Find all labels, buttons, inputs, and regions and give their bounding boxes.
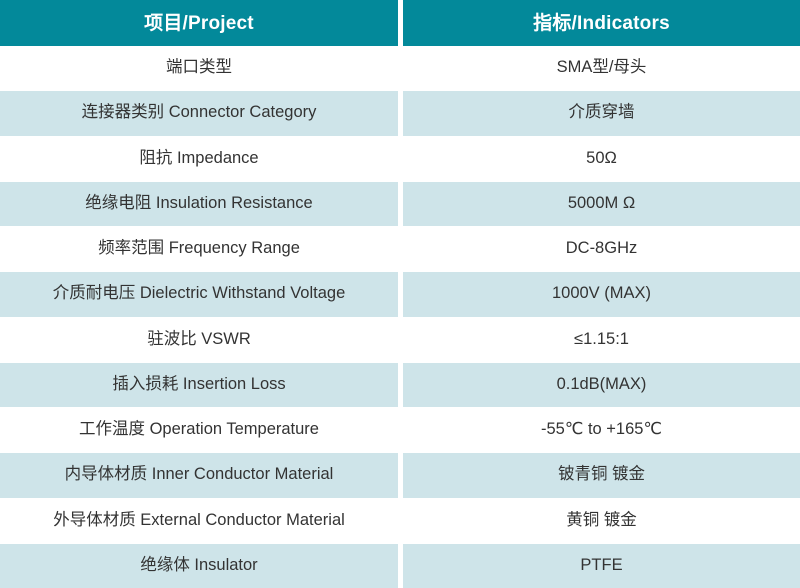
table-row: 驻波比 VSWR ≤1.15:1 (0, 318, 800, 362)
cell-project: 阻抗 Impedance (0, 137, 398, 181)
table-row: 介质耐电压 Dielectric Withstand Voltage 1000V… (0, 272, 800, 316)
cell-indicator: 5000M Ω (403, 182, 800, 226)
cell-indicator: ≤1.15:1 (403, 318, 800, 362)
table-row: 阻抗 Impedance 50Ω (0, 137, 800, 181)
column-header-project: 项目/Project (0, 0, 398, 46)
cell-project: 端口类型 (0, 46, 398, 90)
table-row: 内导体材质 Inner Conductor Material 铍青铜 镀金 (0, 453, 800, 497)
table-row: 插入损耗 Insertion Loss 0.1dB(MAX) (0, 363, 800, 407)
table-row: 频率范围 Frequency Range DC-8GHz (0, 227, 800, 271)
table-row: 连接器类别 Connector Category 介质穿墙 (0, 91, 800, 135)
cell-indicator: 铍青铜 镀金 (403, 453, 800, 497)
cell-project: 绝缘体 Insulator (0, 544, 398, 588)
table-body: 端口类型 SMA型/母头 连接器类别 Connector Category 介质… (0, 46, 800, 588)
table-row: 外导体材质 External Conductor Material 黄铜 镀金 (0, 499, 800, 543)
cell-indicator: 0.1dB(MAX) (403, 363, 800, 407)
cell-project: 介质耐电压 Dielectric Withstand Voltage (0, 272, 398, 316)
cell-indicator: 50Ω (403, 137, 800, 181)
cell-indicator: DC-8GHz (403, 227, 800, 271)
column-header-indicators: 指标/Indicators (403, 0, 800, 46)
cell-project: 绝缘电阻 Insulation Resistance (0, 182, 398, 226)
cell-indicator: 介质穿墙 (403, 91, 800, 135)
cell-indicator: -55℃ to +165℃ (403, 408, 800, 452)
table-row: 绝缘体 Insulator PTFE (0, 544, 800, 588)
cell-indicator: 1000V (MAX) (403, 272, 800, 316)
specification-table: 项目/Project 指标/Indicators 端口类型 SMA型/母头 连接… (0, 0, 800, 588)
cell-project: 连接器类别 Connector Category (0, 91, 398, 135)
cell-indicator: SMA型/母头 (403, 46, 800, 90)
table-header-row: 项目/Project 指标/Indicators (0, 0, 800, 46)
table-row: 工作温度 Operation Temperature -55℃ to +165℃ (0, 408, 800, 452)
table-row: 绝缘电阻 Insulation Resistance 5000M Ω (0, 182, 800, 226)
table-row: 端口类型 SMA型/母头 (0, 46, 800, 90)
cell-project: 频率范围 Frequency Range (0, 227, 398, 271)
cell-indicator: 黄铜 镀金 (403, 499, 800, 543)
cell-indicator: PTFE (403, 544, 800, 588)
cell-project: 内导体材质 Inner Conductor Material (0, 453, 398, 497)
cell-project: 外导体材质 External Conductor Material (0, 499, 398, 543)
cell-project: 驻波比 VSWR (0, 318, 398, 362)
cell-project: 工作温度 Operation Temperature (0, 408, 398, 452)
cell-project: 插入损耗 Insertion Loss (0, 363, 398, 407)
